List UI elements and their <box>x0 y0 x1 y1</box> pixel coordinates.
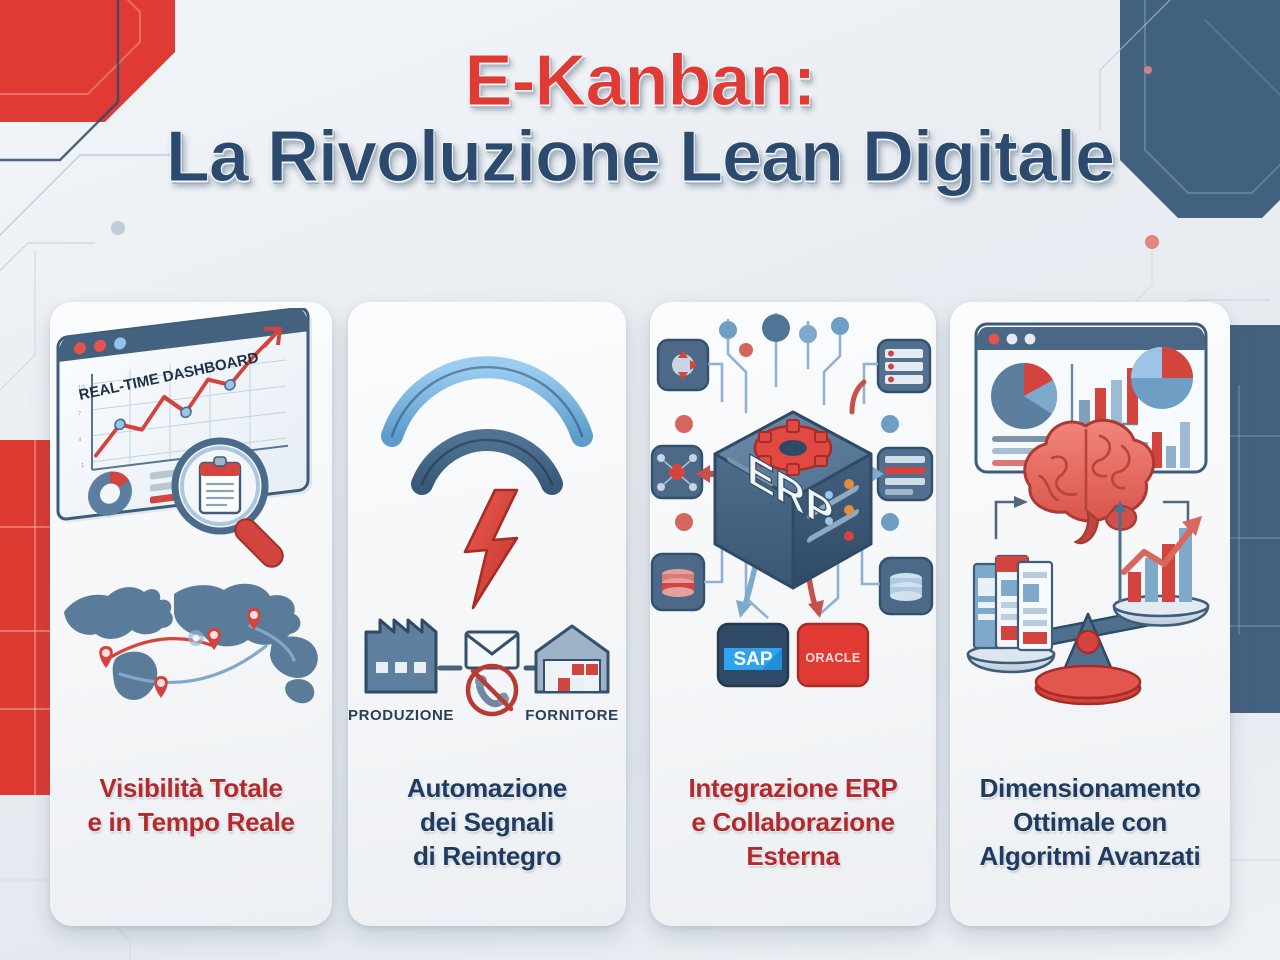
gear-tile <box>658 340 708 390</box>
wifi-icon <box>392 367 582 484</box>
card-title: Integrazione ERP e Collaborazione Estern… <box>658 772 928 873</box>
no-phone-icon <box>468 666 516 714</box>
network-node-tile-left <box>652 446 702 498</box>
envelope-icon <box>466 632 518 668</box>
wireless-automation-illustration: PRODUZIONE <box>348 308 626 758</box>
feature-cards: 107 41 <box>0 302 1280 926</box>
title-line-1: E-Kanban: <box>0 46 1280 117</box>
database-tile-left <box>652 554 704 610</box>
realtime-dashboard-illustration: 107 41 <box>50 308 332 758</box>
oracle-label: ORACLE <box>805 651 860 665</box>
sap-label: SAP <box>733 649 772 670</box>
feature-card-visibility[interactable]: 107 41 <box>50 302 332 926</box>
warehouse-icon <box>536 626 608 692</box>
page-title: E-Kanban: La Rivoluzione Lean Digitale <box>0 46 1280 194</box>
factory-label: PRODUZIONE <box>348 707 454 724</box>
card-title: Dimensionamento Ottimale con Algoritmi A… <box>958 772 1222 873</box>
feature-card-sizing[interactable]: Dimensionamento Ottimale con Algoritmi A… <box>950 302 1230 926</box>
feature-card-erp[interactable]: ERP SAP ORACLE Integrazione ERP e Collab… <box>650 302 936 926</box>
erp-network-illustration: ERP SAP ORACLE <box>650 308 936 758</box>
factory-icon <box>366 620 436 692</box>
sap-tile: SAP <box>718 624 788 686</box>
feature-card-automation[interactable]: PRODUZIONE <box>348 302 626 926</box>
ai-sizing-illustration <box>950 308 1230 758</box>
lightning-bolt-icon <box>465 490 517 608</box>
card-title: Visibilità Totale e in Tempo Reale <box>58 772 324 840</box>
list-panel-tile-right-2 <box>878 448 932 500</box>
oracle-tile: ORACLE <box>798 624 868 686</box>
warehouse-label: FORNITORE <box>525 707 618 724</box>
title-line-2: La Rivoluzione Lean Digitale <box>0 121 1280 194</box>
card-title: Automazione dei Segnali di Reintegro <box>356 772 618 873</box>
database-tile-right <box>880 558 932 614</box>
erp-cube: ERP <box>715 412 871 588</box>
list-panel-tile-right <box>878 340 930 392</box>
